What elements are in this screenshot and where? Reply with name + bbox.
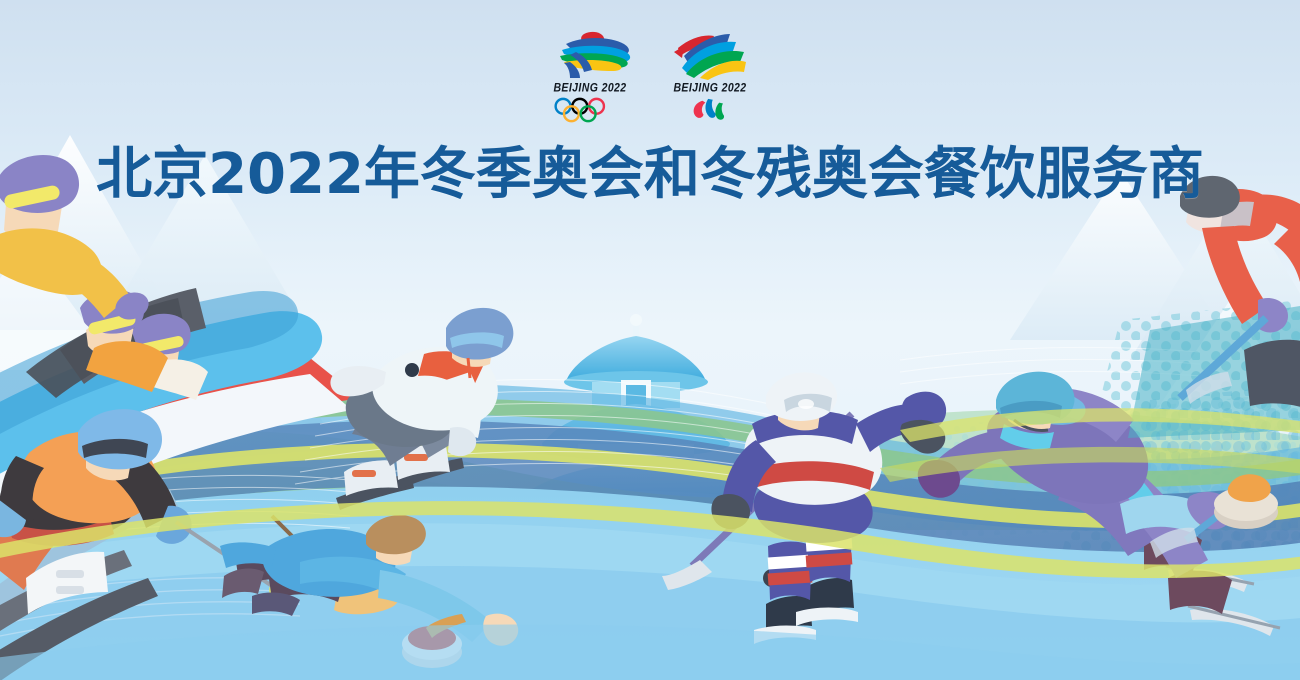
olympic-wordmark: BEIJING 2022: [540, 81, 640, 94]
olympic-rings-icon: [540, 97, 640, 123]
page-title: 北京2022年冬季奥会和冬残奥会餐饮服务商: [0, 142, 1300, 208]
paralympic-wordmark: BEIJING 2022: [660, 81, 760, 94]
olympic-catering-banner: BEIJING 2022: [0, 0, 1300, 680]
leap-emblem-icon: [660, 28, 760, 80]
winter-dream-emblem-icon: [540, 28, 640, 80]
emblem-group: BEIJING 2022: [0, 28, 1300, 123]
beijing-2022-winter-paralympics-emblem: BEIJING 2022: [660, 28, 760, 123]
beijing-2022-winter-olympics-emblem: BEIJING 2022: [540, 28, 640, 123]
paralympic-agitos-icon: [660, 97, 760, 123]
